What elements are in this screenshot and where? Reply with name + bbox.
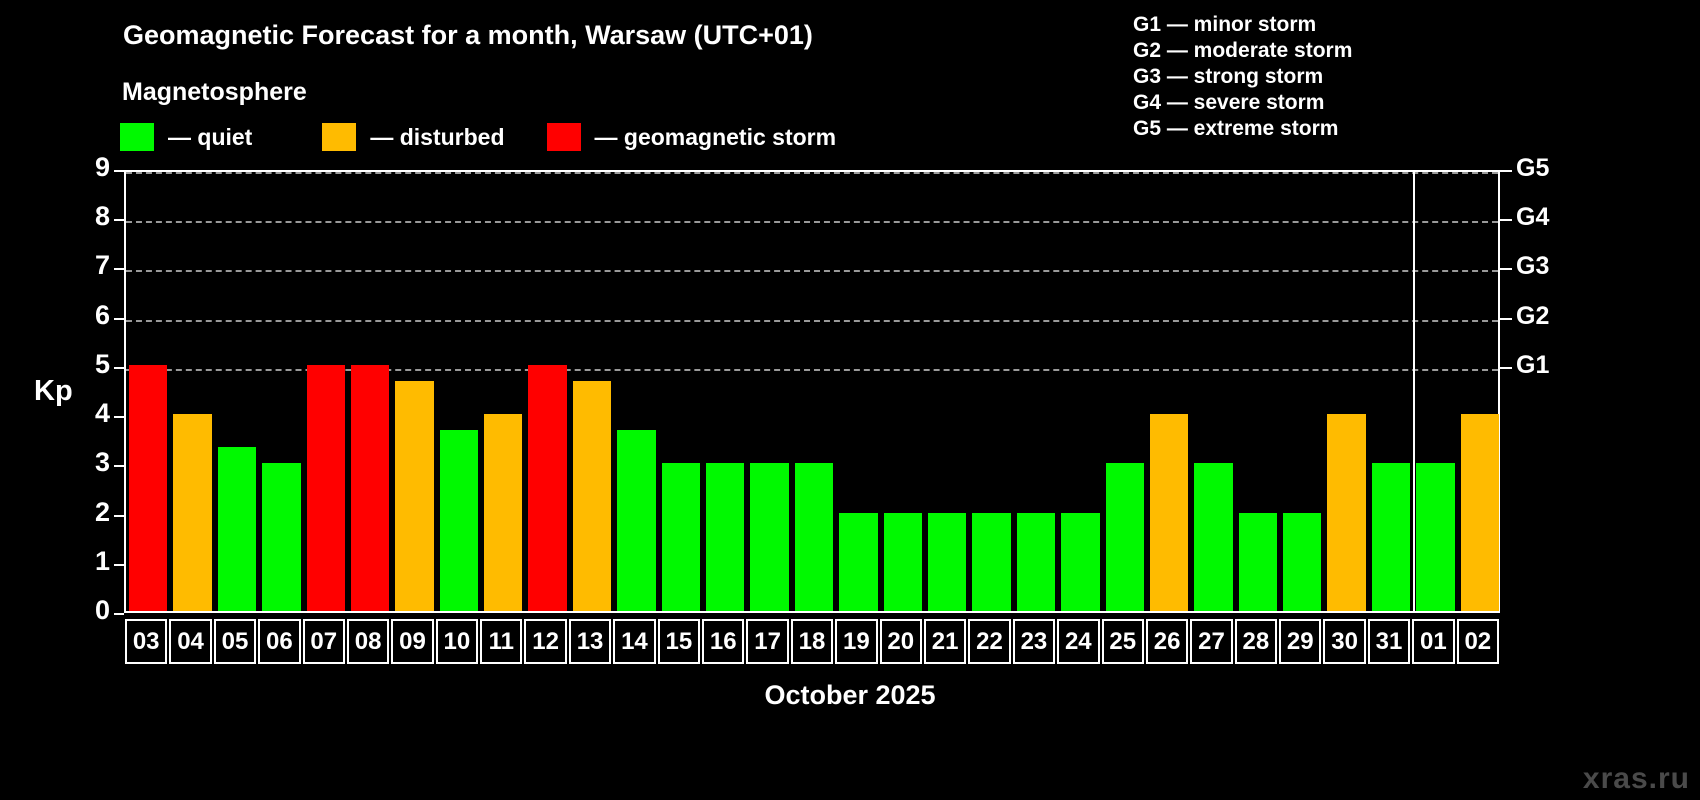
x-axis-day-label: 07 — [310, 630, 337, 654]
x-axis-day-label: 20 — [887, 630, 914, 654]
g-tick-mark-g1 — [1500, 367, 1512, 369]
bar-day-16 — [706, 463, 744, 611]
x-axis-day-label: 10 — [444, 630, 471, 654]
bar-day-13 — [573, 381, 611, 611]
y-tick-mark-4 — [114, 416, 124, 418]
bar-day-27 — [1194, 463, 1232, 611]
x-axis-day-13: 13 — [569, 619, 611, 664]
x-axis-day-19: 19 — [835, 619, 877, 664]
chart-page: Geomagnetic Forecast for a month, Warsaw… — [0, 0, 1700, 800]
x-axis-day-label: 11 — [489, 630, 514, 654]
gscale-row-g3: G3 — strong storm — [1133, 64, 1352, 90]
x-axis-day-label: 05 — [222, 630, 249, 654]
y-tick-mark-7 — [114, 268, 124, 270]
bar-series — [126, 172, 1498, 611]
x-axis-day-26: 26 — [1146, 619, 1188, 664]
g-tick-label-g3: G3 — [1516, 252, 1586, 281]
gscale-row-g2: G2 — moderate storm — [1133, 38, 1352, 64]
x-axis-day-27: 27 — [1190, 619, 1232, 664]
bar-day-30 — [1327, 414, 1365, 611]
y-tick-label-1: 1 — [40, 546, 110, 577]
x-axis-day-label: 24 — [1065, 630, 1092, 654]
y-tick-label-2: 2 — [40, 497, 110, 528]
y-tick-label-0: 0 — [40, 595, 110, 626]
y-tick-mark-0 — [114, 613, 124, 615]
legend-label-storm: — geomagnetic storm — [595, 124, 837, 151]
x-axis-day-label: 04 — [177, 630, 204, 654]
legend-label-disturbed: — disturbed — [370, 124, 504, 151]
x-axis-day-label: 21 — [932, 630, 959, 654]
g-tick-label-g2: G2 — [1516, 302, 1586, 331]
bar-day-11 — [484, 414, 522, 611]
x-axis-day-22: 22 — [968, 619, 1010, 664]
bar-day-21 — [928, 513, 966, 611]
x-axis-day-label: 27 — [1198, 630, 1225, 654]
y-tick-label-3: 3 — [40, 447, 110, 478]
x-axis-day-label: 22 — [976, 630, 1003, 654]
x-axis-day-label: 26 — [1154, 630, 1181, 654]
bar-day-04 — [173, 414, 211, 611]
x-axis-day-15: 15 — [658, 619, 700, 664]
x-axis-day-label: 03 — [133, 630, 160, 654]
x-axis-day-23: 23 — [1013, 619, 1055, 664]
x-axis-day-20: 20 — [880, 619, 922, 664]
legend-item-storm: — geomagnetic storm — [547, 123, 837, 151]
x-axis-day-31: 31 — [1368, 619, 1410, 664]
bar-day-17 — [750, 463, 788, 611]
x-axis-day-16: 16 — [702, 619, 744, 664]
x-axis-day-labels: 0304050607080910111213141516171819202122… — [124, 619, 1500, 664]
x-axis-day-25: 25 — [1102, 619, 1144, 664]
x-axis-day-label: 23 — [1021, 630, 1048, 654]
bar-day-23 — [1017, 513, 1055, 611]
x-axis-day-21: 21 — [924, 619, 966, 664]
x-axis-day-label: 16 — [710, 630, 737, 654]
bar-day-19 — [839, 513, 877, 611]
gscale-legend: G1 — minor stormG2 — moderate stormG3 — … — [1133, 12, 1352, 142]
legend-item-disturbed: — disturbed — [322, 123, 504, 151]
x-axis-day-label: 29 — [1287, 630, 1314, 654]
x-axis-day-04: 04 — [169, 619, 211, 664]
legend-swatch-quiet — [120, 123, 154, 151]
bar-day-02 — [1461, 414, 1499, 611]
bar-day-09 — [395, 381, 433, 611]
x-axis-day-label: 28 — [1243, 630, 1270, 654]
y-tick-mark-1 — [114, 564, 124, 566]
x-axis-day-09: 09 — [391, 619, 433, 664]
bar-day-20 — [884, 513, 922, 611]
y-tick-mark-9 — [114, 170, 124, 172]
y-tick-label-8: 8 — [40, 201, 110, 232]
legend-heading: Magnetosphere — [122, 78, 307, 107]
legend-swatch-disturbed — [322, 123, 356, 151]
month-separator-line — [1413, 172, 1415, 611]
bar-day-24 — [1061, 513, 1099, 611]
x-axis-day-label: 08 — [355, 630, 382, 654]
x-axis-day-30: 30 — [1323, 619, 1365, 664]
y-tick-label-7: 7 — [40, 250, 110, 281]
g-tick-mark-g3 — [1500, 268, 1512, 270]
bar-day-31 — [1372, 463, 1410, 611]
bar-day-14 — [617, 430, 655, 611]
g-tick-label-g5: G5 — [1516, 154, 1586, 183]
watermark: xras.ru — [1583, 762, 1690, 796]
x-axis-day-01: 01 — [1412, 619, 1454, 664]
x-axis-day-label: 06 — [266, 630, 293, 654]
x-axis-day-24: 24 — [1057, 619, 1099, 664]
x-axis-day-12: 12 — [524, 619, 566, 664]
gscale-row-g4: G4 — severe storm — [1133, 90, 1352, 116]
bar-day-06 — [262, 463, 300, 611]
bar-day-10 — [440, 430, 478, 611]
magnetosphere-legend: — quiet— disturbed— geomagnetic storm — [120, 123, 836, 151]
legend-label-quiet: — quiet — [168, 124, 252, 151]
bar-day-12 — [528, 365, 566, 611]
gscale-row-g5: G5 — extreme storm — [1133, 116, 1352, 142]
y-tick-mark-6 — [114, 318, 124, 320]
bar-day-26 — [1150, 414, 1188, 611]
y-tick-label-9: 9 — [40, 152, 110, 183]
y-tick-mark-5 — [114, 367, 124, 369]
bar-day-22 — [972, 513, 1010, 611]
x-axis-day-10: 10 — [436, 619, 478, 664]
x-axis-day-28: 28 — [1235, 619, 1277, 664]
bar-day-01 — [1416, 463, 1454, 611]
bar-day-05 — [218, 447, 256, 611]
x-axis-day-08: 08 — [347, 619, 389, 664]
x-axis-day-label: 09 — [399, 630, 426, 654]
page-title: Geomagnetic Forecast for a month, Warsaw… — [123, 20, 813, 51]
plot-area — [124, 170, 1500, 613]
legend-item-quiet: — quiet — [120, 123, 252, 151]
g-tick-mark-g5 — [1500, 170, 1512, 172]
x-axis-day-03: 03 — [125, 619, 167, 664]
gscale-row-g1: G1 — minor storm — [1133, 12, 1352, 38]
x-axis-day-05: 05 — [214, 619, 256, 664]
bar-day-29 — [1283, 513, 1321, 611]
x-axis-day-label: 12 — [532, 630, 559, 654]
x-axis-day-14: 14 — [613, 619, 655, 664]
g-tick-label-g4: G4 — [1516, 203, 1586, 232]
x-axis-day-label: 15 — [665, 630, 692, 654]
x-axis-title: October 2025 — [0, 680, 1700, 711]
bar-day-28 — [1239, 513, 1277, 611]
x-axis-day-label: 19 — [843, 630, 870, 654]
x-axis-day-11: 11 — [480, 619, 522, 664]
bar-day-03 — [129, 365, 167, 611]
x-axis-day-07: 07 — [303, 619, 345, 664]
bar-day-18 — [795, 463, 833, 611]
x-axis-day-label: 02 — [1464, 630, 1491, 654]
bar-day-25 — [1106, 463, 1144, 611]
x-axis-day-29: 29 — [1279, 619, 1321, 664]
x-axis-day-02: 02 — [1457, 619, 1499, 664]
x-axis-day-label: 18 — [799, 630, 826, 654]
y-axis-title: Kp — [34, 375, 73, 408]
y-tick-mark-2 — [114, 515, 124, 517]
g-tick-mark-g4 — [1500, 219, 1512, 221]
x-axis-day-label: 13 — [577, 630, 604, 654]
x-axis-day-17: 17 — [746, 619, 788, 664]
legend-swatch-storm — [547, 123, 581, 151]
g-tick-mark-g2 — [1500, 318, 1512, 320]
y-tick-mark-8 — [114, 219, 124, 221]
bar-day-07 — [307, 365, 345, 611]
x-axis-day-label: 30 — [1331, 630, 1358, 654]
bar-day-08 — [351, 365, 389, 611]
x-axis-day-label: 25 — [1109, 630, 1136, 654]
x-axis-day-label: 17 — [754, 630, 781, 654]
y-tick-label-6: 6 — [40, 300, 110, 331]
g-tick-label-g1: G1 — [1516, 351, 1586, 380]
x-axis-day-18: 18 — [791, 619, 833, 664]
bar-day-15 — [662, 463, 700, 611]
x-axis-day-label: 31 — [1376, 630, 1403, 654]
x-axis-day-label: 14 — [621, 630, 648, 654]
x-axis-day-06: 06 — [258, 619, 300, 664]
y-tick-mark-3 — [114, 465, 124, 467]
x-axis-day-label: 01 — [1420, 630, 1447, 654]
